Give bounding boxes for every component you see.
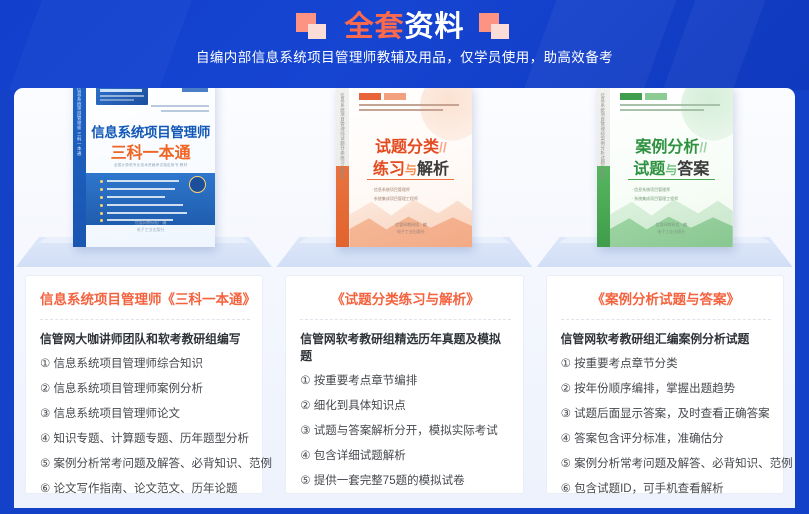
card-item: ⑤ 案例分析常考问题及解答、必背知识、范例	[561, 456, 771, 473]
info-card-2[interactable]: 《试题分类练习与解析》 信管网软考教研组精选历年真题及模拟题 ① 按重要考点章节…	[285, 275, 523, 494]
card-item: ① 信息系统项目管理师综合知识	[40, 356, 250, 373]
card-item: ② 细化到具体知识点	[300, 398, 510, 415]
info-card-3[interactable]: 《案例分析试题与答案》 信管网软考教研组汇编案例分析试题 ① 按重要考点章节分类…	[546, 275, 784, 494]
book-spine-1: 信息系统项目管理师 三科一本通	[73, 88, 86, 247]
card-title-2: 《试题分类练习与解析》	[300, 290, 510, 310]
book2-tags	[359, 93, 406, 100]
page-title-accent: 全套	[344, 11, 404, 43]
book3-header-lines	[620, 104, 725, 113]
book2-title-1a: 试题分类	[375, 139, 439, 156]
square-deco-left-icon	[296, 13, 330, 41]
card-item: ⑥ 论文写作指南、论文范文、历年论题	[40, 481, 250, 498]
content-panel: 信息系统项目管理师 三科一本通 信息系统项目管理师 三科一本通	[14, 88, 795, 508]
card-item: ① 按重要考点章节编排	[300, 373, 510, 390]
book2-title-line2: 练习与解析	[349, 155, 472, 179]
book1-header-lines	[147, 91, 209, 114]
book3-tags	[620, 93, 667, 100]
card-item: ④ 包含详细试题解析	[300, 448, 510, 465]
product-column-2[interactable]: 信息系统项目管理师试题分类练习与解析 试题分类//	[274, 88, 534, 508]
book-face-2: 试题分类// 练习与解析 · 信息系统项目管理师 · 系统集成项目管理工程师 信…	[349, 88, 472, 247]
card-separator-2	[300, 319, 510, 320]
book2-publisher-name: 信管网教研组 · 编	[395, 222, 427, 227]
book-spine-text-3: 信息系统项目管理师案例分析试题与答案	[597, 93, 610, 179]
book-stage-1: 信息系统项目管理师 三科一本通 信息系统项目管理师 三科一本通	[14, 88, 274, 273]
card-separator-1	[40, 319, 250, 320]
card-item: ② 信息系统项目管理师案例分析	[40, 381, 250, 398]
book2-title-2a: 练习	[373, 161, 405, 178]
card-item: ⑤ 提供一套完整75题的模拟试卷	[300, 473, 510, 490]
book3-tag-2	[645, 93, 667, 100]
page-header: 全套资料 自编内部信息系统项目管理师教辅及用品，仅学员使用，助高效备考	[0, 0, 809, 90]
book-cover-2[interactable]: 信息系统项目管理师试题分类练习与解析 试题分类//	[336, 88, 472, 247]
book1-subtitle: 全国计算机专业技术资格考试指定用书·教材	[86, 163, 215, 168]
book1-badge	[96, 88, 148, 105]
card-item: ③ 试题与答案解析分开，模拟实际考试	[300, 423, 510, 440]
book2-publisher: 信管网教研组 · 编 电子工业出版社	[349, 221, 472, 235]
page-title-main: 资料	[405, 11, 465, 43]
book3-rule	[628, 179, 715, 180]
card-item: ③ 信息系统项目管理师论文	[40, 406, 250, 423]
book3-tag-1	[620, 93, 642, 100]
book3-title-2b: 与	[665, 163, 677, 177]
book-face-1: 信息系统项目管理师 三科一本通 全国计算机专业技术资格考试指定用书·教材	[86, 88, 215, 247]
book2-tag-2	[384, 93, 406, 100]
book-spine-2: 信息系统项目管理师试题分类练习与解析	[336, 88, 349, 247]
book3-title-slash: //	[699, 139, 707, 155]
book1-title-line1: 信息系统项目管理师	[86, 121, 215, 141]
book2-title-2c: 解析	[417, 161, 449, 178]
book3-point-1: · 信息系统项目管理师	[632, 187, 670, 193]
book3-publisher-house: 电子工业出版社	[657, 229, 685, 234]
book-cover-1[interactable]: 信息系统项目管理师 三科一本通 信息系统项目管理师 三科一本通	[73, 88, 215, 247]
book-face-3: 案例分析// 试题与答案 · 信息系统项目管理师 · 系统集成项目管理工程师 信…	[610, 88, 733, 247]
page-title: 全套资料	[344, 10, 464, 44]
product-column-3[interactable]: 信息系统项目管理师案例分析试题与答案 案例分析//	[535, 88, 795, 508]
book-cover-3[interactable]: 信息系统项目管理师案例分析试题与答案 案例分析//	[597, 88, 733, 247]
book2-title-line1: 试题分类//	[349, 133, 472, 157]
card-item: ① 按重要考点章节分类	[561, 356, 771, 373]
book-spine-text-2: 信息系统项目管理师试题分类练习与解析	[336, 93, 349, 179]
card-title-1: 信息系统项目管理师《三科一本通》	[40, 290, 250, 310]
book2-title-slash: //	[439, 139, 447, 155]
book2-title-2b: 与	[405, 163, 417, 177]
card-title-3: 《案例分析试题与答案》	[561, 290, 771, 310]
book2-point-2: · 系统集成项目管理工程师	[371, 196, 417, 202]
book2-publisher-house: 电子工业出版社	[397, 229, 425, 234]
book1-seal-icon	[189, 176, 206, 193]
book3-title-1a: 案例分析	[635, 139, 699, 156]
page-subtitle: 自编内部信息系统项目管理师教辅及用品，仅学员使用，助高效备考	[0, 46, 809, 66]
square-deco-right-icon	[479, 13, 513, 41]
book-spine-3: 信息系统项目管理师案例分析试题与答案	[597, 88, 610, 247]
card-item: ② 按年份顺序编排，掌握出题趋势	[561, 381, 771, 398]
book2-tag-1	[359, 93, 381, 100]
book3-title-2a: 试题	[633, 161, 665, 178]
card-separator-3	[561, 319, 771, 320]
card-item: ⑤ 案例分析常考问题及解答、必背知识、范例	[40, 456, 250, 473]
card-lead-3: 信管网软考教研组汇编案例分析试题	[561, 331, 771, 348]
info-card-1[interactable]: 信息系统项目管理师《三科一本通》 信管网大咖讲师团队和软考教研组编写 ① 信息系…	[25, 275, 263, 494]
book1-title-line2: 三科一本通	[86, 139, 215, 163]
title-row: 全套资料	[0, 8, 809, 46]
book3-title-line1: 案例分析//	[610, 133, 733, 157]
book1-publisher-name: 信管网教研组 · 编	[135, 220, 167, 225]
card-item: ④ 知识专题、计算题专题、历年题型分析	[40, 431, 250, 448]
book3-publisher-name: 信管网教研组 · 编	[655, 222, 687, 227]
book2-point-1: · 信息系统项目管理师	[371, 187, 409, 193]
book3-title-line2: 试题与答案	[610, 155, 733, 179]
card-lead-2: 信管网软考教研组精选历年真题及模拟题	[300, 331, 510, 365]
card-item: ④ 答案包含评分标准，准确估分	[561, 431, 771, 448]
product-column-1[interactable]: 信息系统项目管理师 三科一本通 信息系统项目管理师 三科一本通	[14, 88, 274, 508]
book-stage-3: 信息系统项目管理师案例分析试题与答案 案例分析//	[535, 88, 795, 273]
product-grid: 信息系统项目管理师 三科一本通 信息系统项目管理师 三科一本通	[14, 88, 795, 508]
card-lead-1: 信管网大咖讲师团队和软考教研组编写	[40, 331, 250, 348]
card-item: ③ 试题后面显示答案，及时查看正确答案	[561, 406, 771, 423]
book3-point-2: · 系统集成项目管理工程师	[632, 196, 678, 202]
card-item: ⑥ 包含试题ID，可手机查看解析	[561, 481, 771, 498]
book2-rule	[367, 179, 454, 180]
book3-publisher: 信管网教研组 · 编 电子工业出版社	[610, 221, 733, 235]
book1-publisher-house: 电子工业出版社	[137, 227, 165, 232]
book-spine-text-1: 信息系统项目管理师 三科一本通	[73, 88, 86, 156]
book-stage-2: 信息系统项目管理师试题分类练习与解析 试题分类//	[274, 88, 534, 273]
book1-publisher: 信管网教研组 · 编 电子工业出版社	[86, 219, 215, 233]
book3-title-2c: 答案	[677, 161, 709, 178]
book2-header-lines	[359, 104, 464, 113]
